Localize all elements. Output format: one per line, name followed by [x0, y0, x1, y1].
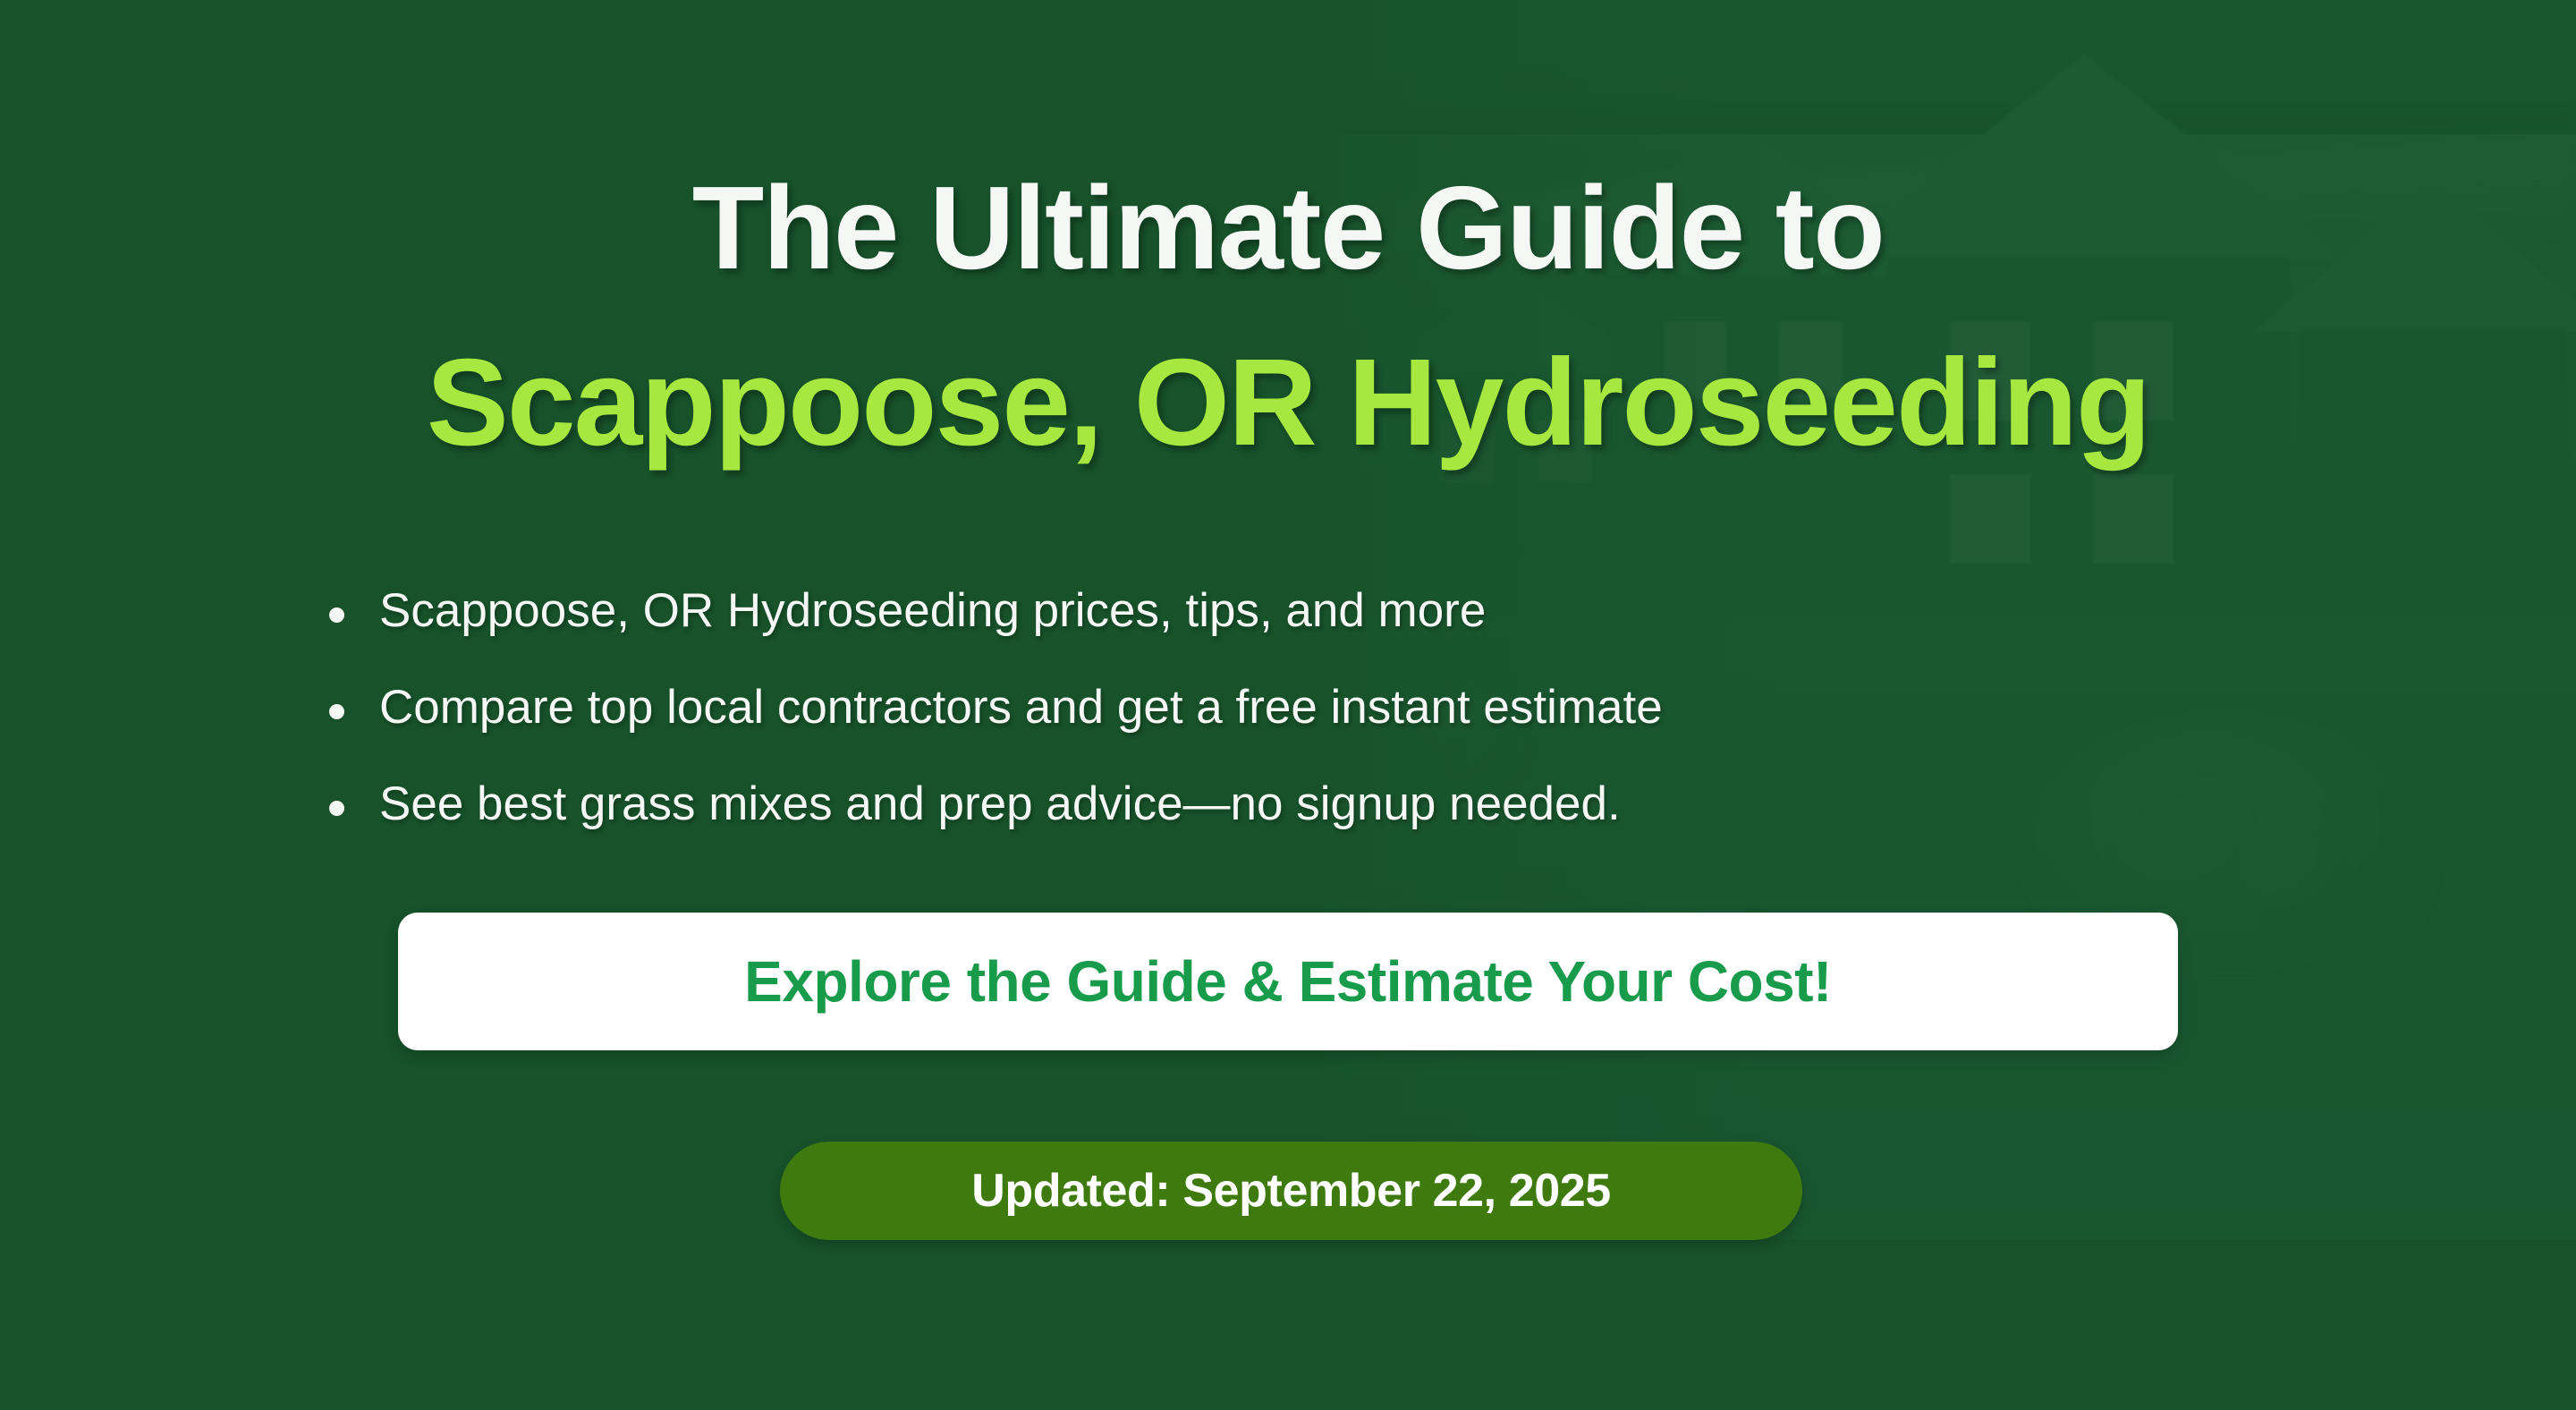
list-item: Compare top local contractors and get a … — [329, 683, 1663, 733]
updated-date-badge: Updated: September 22, 2025 — [780, 1142, 1802, 1240]
page-title-line-1: The Ultimate Guide to — [0, 168, 2576, 289]
list-item: Scappoose, OR Hydroseeding prices, tips,… — [329, 586, 1663, 636]
explore-guide-cta-button[interactable]: Explore the Guide & Estimate Your Cost! — [398, 913, 2178, 1050]
list-item: See best grass mixes and prep advice—no … — [329, 779, 1663, 829]
page-title-line-2: Scappoose, OR Hydroseeding — [0, 340, 2576, 466]
hero-banner: The Ultimate Guide to Scappoose, OR Hydr… — [0, 0, 2576, 1410]
benefit-list: Scappoose, OR Hydroseeding prices, tips,… — [329, 586, 1663, 877]
hero-content: The Ultimate Guide to Scappoose, OR Hydr… — [0, 0, 2576, 1410]
